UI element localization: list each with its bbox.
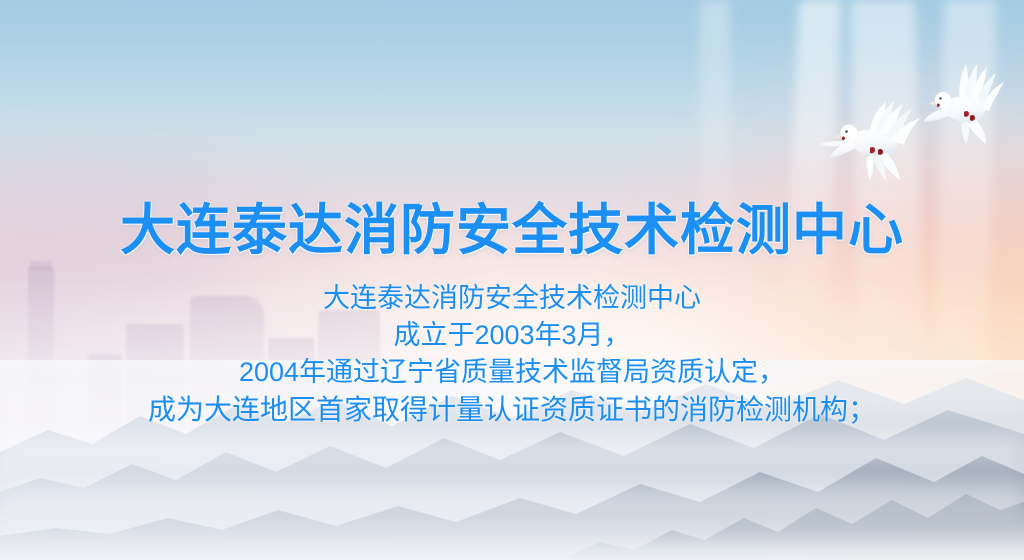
body-line: 2004年通过辽宁省质量技术监督局资质认定， — [0, 354, 1024, 391]
slide-body-copy: 大连泰达消防安全技术检测中心 成立于2003年3月， 2004年通过辽宁省质量技… — [0, 280, 1024, 428]
slide-headline: 大连泰达消防安全技术检测中心 — [0, 203, 1024, 258]
body-line: 成为大连地区首家取得计量认证资质证书的消防检测机构； — [0, 391, 1024, 428]
body-line: 成立于2003年3月， — [0, 317, 1024, 354]
body-line: 大连泰达消防安全技术检测中心 — [0, 280, 1024, 317]
mist-band — [0, 482, 1024, 516]
skyline-tower-cap — [30, 261, 52, 270]
presentation-slide: 大连泰达消防安全技术检测中心 大连泰达消防安全技术检测中心 成立于2003年3月… — [0, 0, 1024, 560]
